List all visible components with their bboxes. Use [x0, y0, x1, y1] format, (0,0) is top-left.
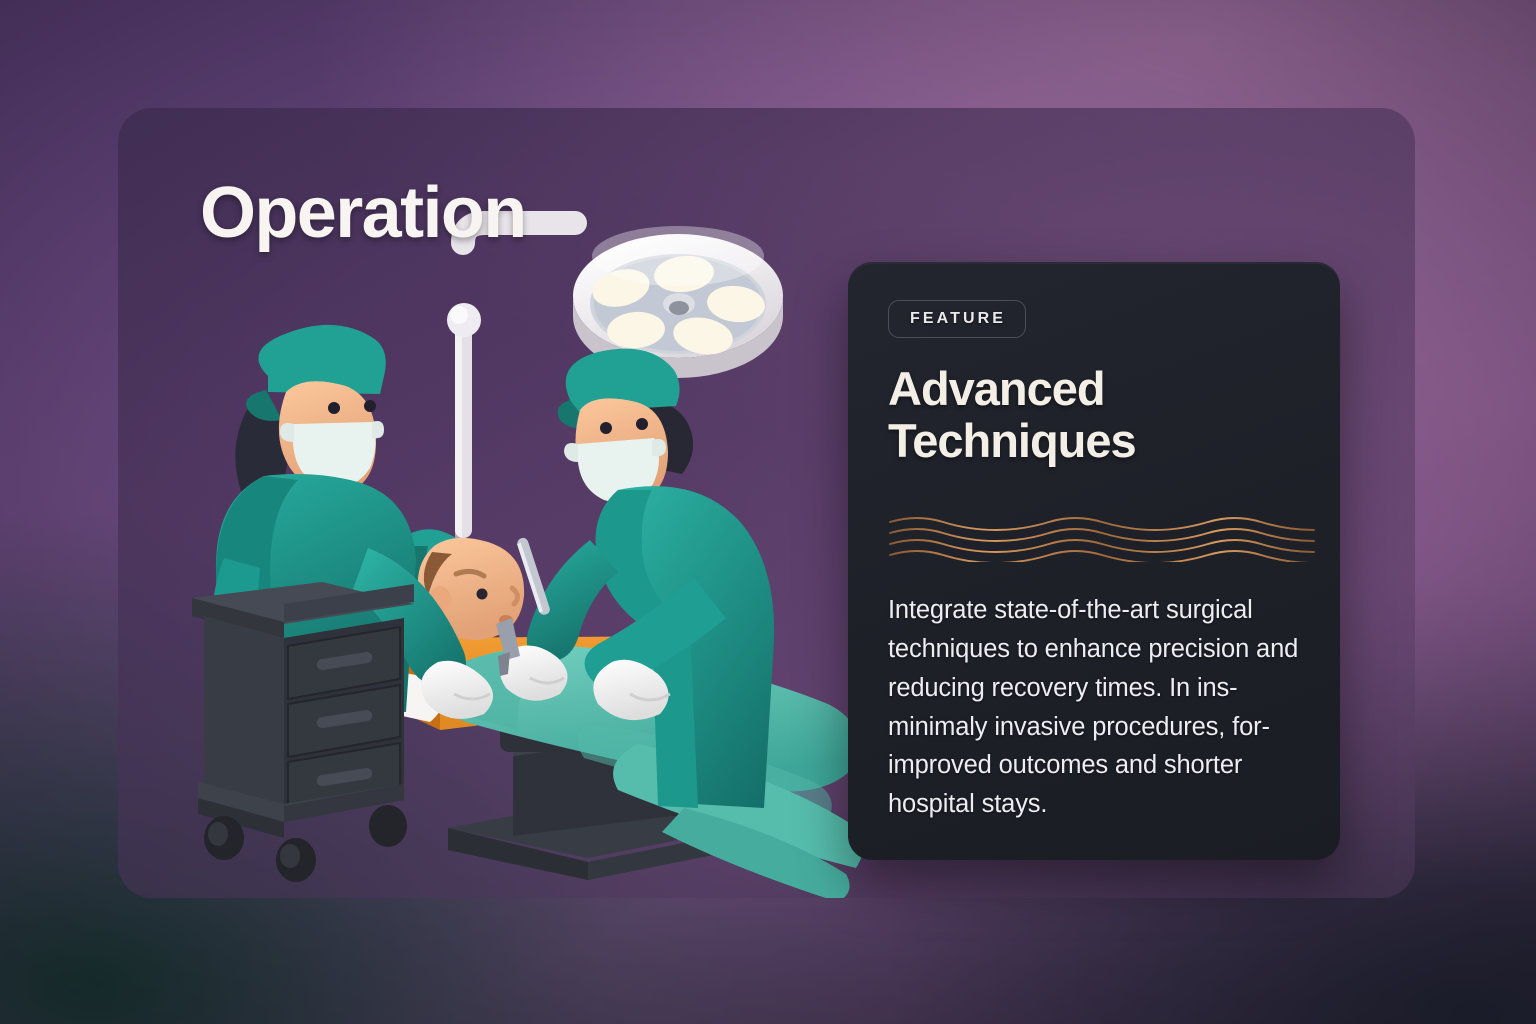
feature-card: FEATURE Advanced Techniques: [848, 262, 1340, 860]
card-heading-line-2: Techniques: [888, 415, 1300, 467]
card-heading: Advanced Techniques: [888, 363, 1300, 467]
decorative-wave-divider: [888, 494, 1315, 562]
feature-badge: FEATURE: [888, 300, 1026, 338]
page-title: Operation: [200, 172, 526, 254]
card-heading-line-1: Advanced: [888, 363, 1300, 415]
card-body-text: Integrate state-of-the-art surgical tech…: [888, 591, 1300, 824]
